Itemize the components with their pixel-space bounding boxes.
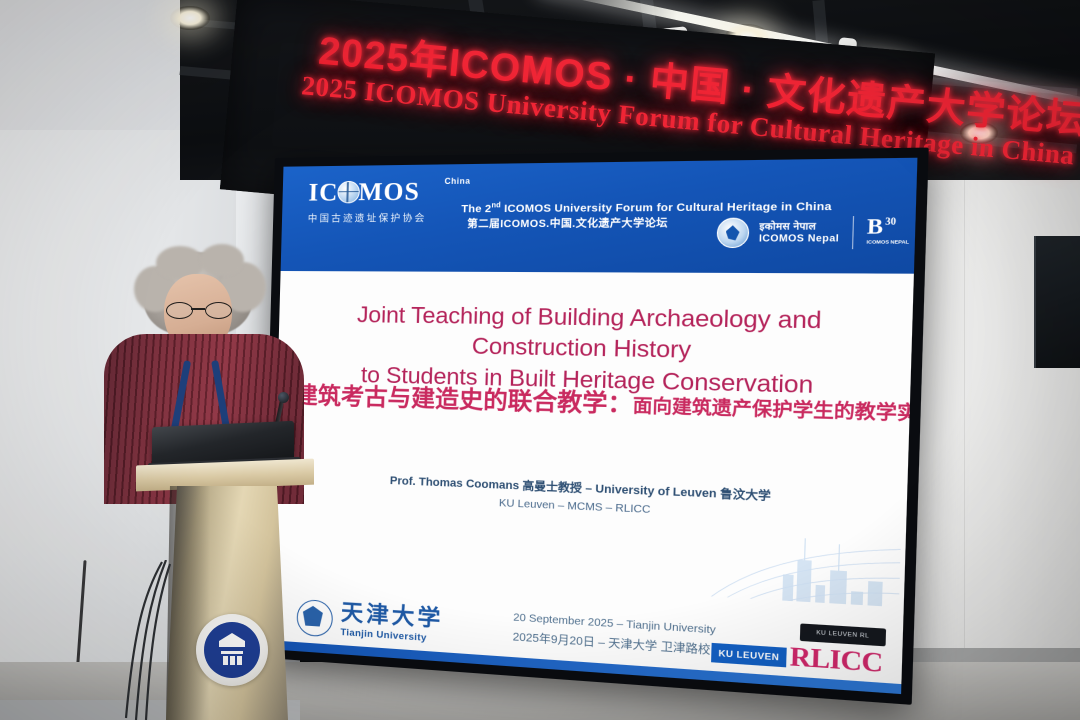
- icomos-chinese-name: 中国古迹遗址保护协会: [308, 210, 443, 225]
- icomos-word-suffix: MOS: [358, 178, 420, 206]
- rlicc-top-text: KU LEUVEN RL: [816, 630, 869, 640]
- downlight-icon: [170, 6, 210, 30]
- glasses-right-lens: [205, 302, 232, 319]
- globe-icon: [337, 181, 360, 204]
- icomos-nepal-devanagari: इकोमस नेपाल: [759, 220, 840, 233]
- podium-cables: [120, 560, 178, 720]
- glasses-left-lens: [166, 302, 193, 319]
- icomos-word-prefix: IC: [308, 179, 339, 207]
- icomos-nepal-english: ICOMOS Nepal: [759, 233, 840, 245]
- title-line-1: Joint Teaching of Building Archaeology a…: [357, 302, 822, 364]
- icomos-wordmark: ICMOS China: [308, 179, 443, 206]
- forum-title-english: The 2nd ICOMOS University Forum for Cult…: [461, 199, 832, 218]
- wall-monitor: [1034, 236, 1080, 368]
- b30-letter: B: [867, 215, 884, 239]
- ku-leuven-badge: KU LEUVEN: [711, 642, 786, 666]
- presentation-slide: ICMOS China 中国古迹遗址保护协会 The 2nd ICOMOS Un…: [270, 158, 917, 694]
- tianjin-university-seal: [196, 614, 268, 686]
- title-cn-tail: 面向建筑遗产保护学生的教学实: [633, 395, 918, 424]
- podium-seal-glyph-icon: [214, 631, 250, 669]
- icomos-china-superscript: China: [444, 178, 470, 187]
- rlicc-building-mark: KU LEUVEN RL: [800, 623, 886, 646]
- b30-anniversary-logo: B 30 ICOMOS NEPAL: [866, 216, 898, 249]
- slide-footer-date: 20 September 2025 – Tianjin University 2…: [512, 610, 723, 662]
- forum-en-a: The 2: [461, 203, 491, 216]
- speaker-hair: [200, 244, 244, 276]
- icomos-nepal-logo-block: इकोमस नेपाल ICOMOS Nepal B 30 ICOMOS NEP…: [716, 216, 899, 249]
- b30-caption: ICOMOS NEPAL: [866, 239, 909, 245]
- tju-chinese-name: 天津大学: [341, 602, 444, 631]
- icomos-nepal-text: इकोमस नेपाल ICOMOS Nepal: [759, 220, 840, 245]
- tianjin-university-name: 天津大学 Tianjin University: [340, 602, 444, 645]
- icomos-china-logo: ICMOS China 中国古迹遗址保护协会: [308, 179, 444, 225]
- rlicc-wordmark: RLICC: [789, 644, 883, 678]
- right-wall-seam: [964, 150, 965, 670]
- glasses-bridge: [191, 308, 205, 310]
- forum-en-b: ICOMOS University Forum for Cultural Her…: [501, 200, 832, 215]
- tianjin-university-seal-icon: [296, 599, 333, 638]
- microphone-head-icon: [278, 392, 289, 403]
- conference-photo-scene: 2025年ICOMOS · 中国 · 文化遗产大学论坛 2025 ICOMOS …: [0, 0, 1080, 720]
- projection-screen: ICMOS China 中国古迹遗址保护协会 The 2nd ICOMOS Un…: [261, 148, 929, 705]
- glasses-icon: [166, 302, 230, 317]
- b30-number: 30: [885, 217, 896, 227]
- logo-divider: [852, 216, 854, 249]
- tianjin-university-logo: 天津大学 Tianjin University: [296, 599, 443, 645]
- slide-header-band: ICMOS China 中国古迹遗址保护协会 The 2nd ICOMOS Un…: [281, 158, 918, 274]
- icomos-nepal-emblem-icon: [716, 218, 749, 248]
